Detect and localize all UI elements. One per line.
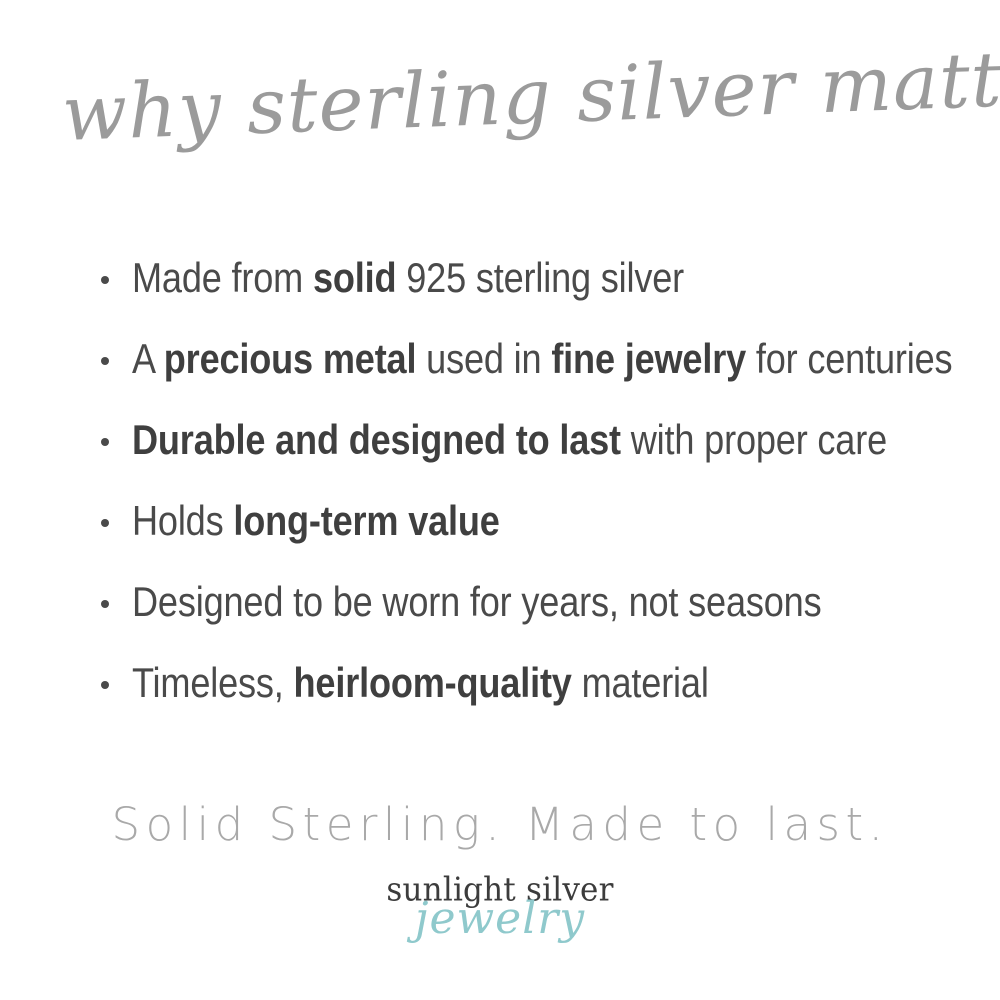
list-item: Timeless, heirloom-quality material <box>0 657 1000 738</box>
brand-logo: sunlight silver jewelry <box>0 872 1000 962</box>
bullet-dot-icon <box>101 519 109 527</box>
bullet-dot-icon <box>101 357 109 365</box>
headline-container: why sterling silver matters: <box>0 46 1000 216</box>
benefits-list: Made from solid 925 sterling silver A pr… <box>0 252 1000 738</box>
list-item: Designed to be worn for years, not seaso… <box>0 576 1000 657</box>
list-item: Made from solid 925 sterling silver <box>0 252 1000 333</box>
bullet-dot-icon <box>101 276 109 284</box>
list-item-text: Designed to be worn for years, not seaso… <box>132 576 821 628</box>
list-item: A precious metal used in fine jewelry fo… <box>0 333 1000 414</box>
tagline: Solid Sterling. Made to last. <box>0 796 1000 854</box>
bullet-dot-icon <box>101 681 109 689</box>
poster-canvas: why sterling silver matters: Made from s… <box>0 0 1000 1000</box>
list-item: Durable and designed to last with proper… <box>0 414 1000 495</box>
bullet-dot-icon <box>101 438 109 446</box>
list-item-text: Timeless, heirloom-quality material <box>132 657 709 709</box>
list-item-text: Made from solid 925 sterling silver <box>132 252 684 304</box>
brand-name-script: jewelry <box>385 892 615 946</box>
brand-logo-inner: sunlight silver jewelry <box>385 872 615 958</box>
bullet-dot-icon <box>101 600 109 608</box>
list-item-text: Durable and designed to last with proper… <box>132 414 887 466</box>
list-item-text: A precious metal used in fine jewelry fo… <box>132 333 952 385</box>
list-item: Holds long-term value <box>0 495 1000 576</box>
page-title: why sterling silver matters: <box>61 42 943 154</box>
list-item-text: Holds long-term value <box>132 495 500 547</box>
